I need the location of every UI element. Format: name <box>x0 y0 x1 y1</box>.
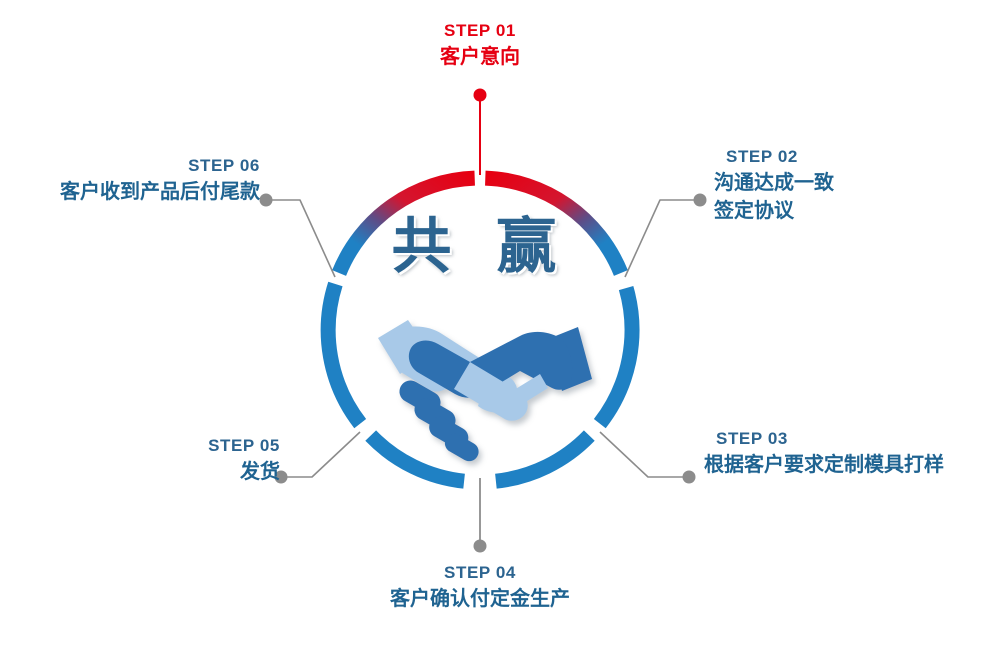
step-05[interactable]: STEP 05 发货 <box>110 435 280 486</box>
connector-dot-step-01 <box>474 89 487 102</box>
step-01[interactable]: STEP 01 客户意向 <box>380 20 580 71</box>
connector-step-06 <box>272 200 335 277</box>
step-04-text: 客户确认付定金生产 <box>380 585 580 613</box>
step-02-number: STEP 02 <box>714 146 984 169</box>
step-02[interactable]: STEP 02 沟通达成一致 签定协议 <box>714 146 984 224</box>
step-05-number: STEP 05 <box>110 435 280 458</box>
process-circle-diagram <box>0 0 1000 650</box>
step-01-text: 客户意向 <box>380 43 580 71</box>
connector-dot-step-04 <box>474 540 487 553</box>
infographic-canvas: STEP 01 客户意向 STEP 02 沟通达成一致 签定协议 STEP 03… <box>0 0 1000 650</box>
step-04[interactable]: STEP 04 客户确认付定金生产 <box>380 562 580 613</box>
connector-step-05 <box>287 432 360 477</box>
ring-arc-left <box>328 284 360 424</box>
connector-step-03 <box>600 432 683 477</box>
step-06-number: STEP 06 <box>10 155 260 178</box>
step-01-number: STEP 01 <box>380 20 580 43</box>
step-02-text-line2: 签定协议 <box>714 197 984 225</box>
center-wordmark: 共 赢 <box>380 216 580 279</box>
connector-dot-step-06 <box>260 194 273 207</box>
connector-step-02 <box>625 200 695 277</box>
handshake-icon <box>378 320 592 465</box>
step-05-text: 发货 <box>110 458 280 486</box>
step-06-text: 客户收到产品后付尾款 <box>10 178 260 206</box>
step-04-number: STEP 04 <box>380 562 580 585</box>
step-03-number: STEP 03 <box>704 428 994 451</box>
ring-arc-right <box>600 288 632 424</box>
connector-dot-step-02 <box>694 194 707 207</box>
step-06[interactable]: STEP 06 客户收到产品后付尾款 <box>10 155 260 206</box>
connector-dot-step-03 <box>683 471 696 484</box>
ring-arc-lower-right <box>496 436 589 482</box>
step-03[interactable]: STEP 03 根据客户要求定制模具打样 <box>704 428 994 479</box>
step-03-text: 根据客户要求定制模具打样 <box>704 451 994 479</box>
step-02-text: 沟通达成一致 <box>714 169 984 197</box>
